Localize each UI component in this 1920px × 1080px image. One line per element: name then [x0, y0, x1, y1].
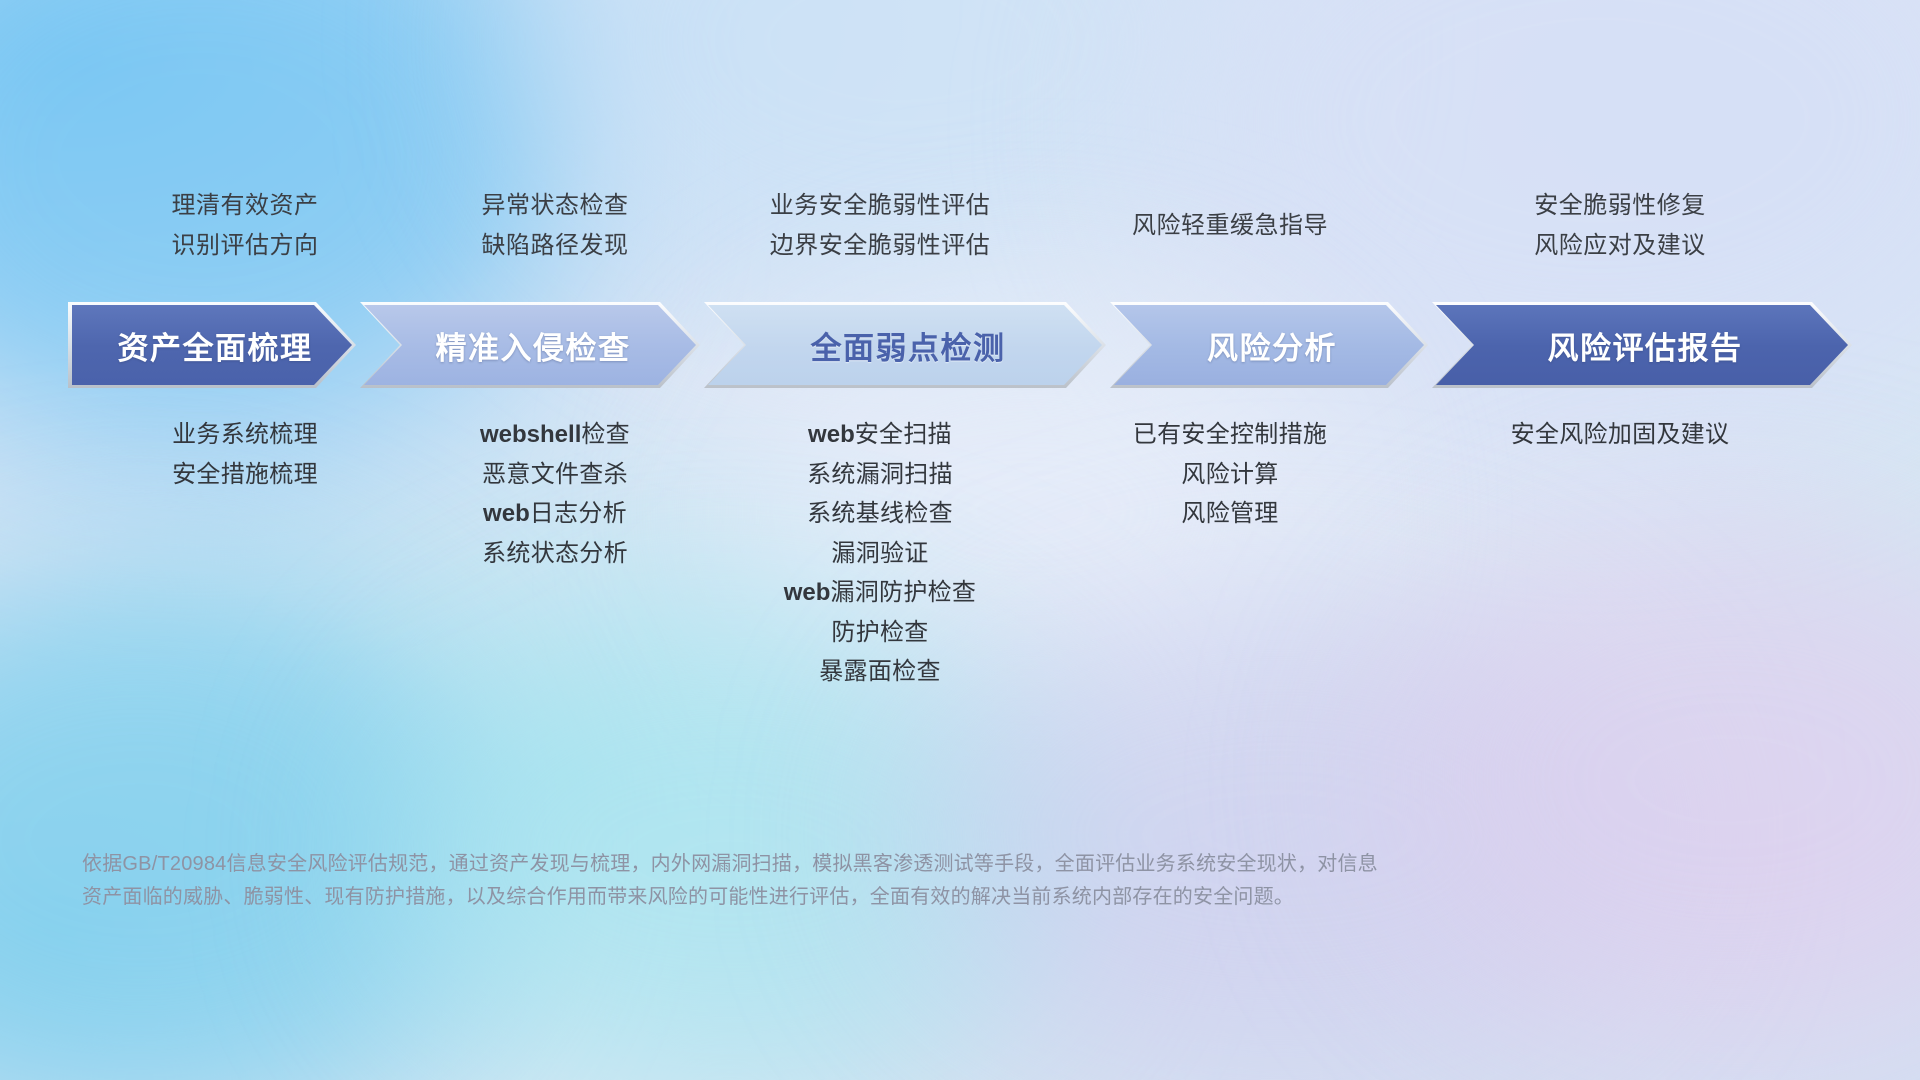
chevron-stage-risk-analysis[interactable]: 风险分析: [1114, 305, 1424, 385]
input-item: 业务安全脆弱性评估: [700, 186, 1060, 226]
output-item: 安全风险加固及建议: [1400, 415, 1840, 455]
input-item: 风险应对及建议: [1400, 226, 1840, 266]
output-item: web漏洞防护检查: [700, 573, 1060, 613]
output-item: web安全扫描: [700, 415, 1060, 455]
output-item: 暴露面检查: [700, 652, 1060, 692]
inputs-list-intrusion-check: 异常状态检查 缺陷路径发现: [400, 186, 710, 266]
output-item: 防护检查: [700, 613, 1060, 653]
outputs-list-weakness-detection: web安全扫描 系统漏洞扫描 系统基线检查 漏洞验证 web漏洞防护检查 防护检…: [700, 415, 1060, 692]
stage-column-risk-analysis: 风险轻重缓急指导 已有安全控制措施 风险计算 风险管理: [1080, 0, 1380, 1080]
chevron-label: 风险分析: [1201, 323, 1337, 368]
chevron-label: 精准入侵检查: [430, 323, 631, 368]
output-item: 风险管理: [1080, 494, 1380, 534]
inputs-list-asset-inventory: 理清有效资产 识别评估方向: [80, 186, 410, 266]
output-item: 已有安全控制措施: [1080, 415, 1380, 455]
input-item: 安全脆弱性修复: [1400, 186, 1840, 226]
process-chevron-band: 资产全面梳理 精准入侵检查 全面弱点检测 风险分析 风险评估报告: [72, 305, 1848, 385]
input-item: 理清有效资产: [80, 186, 410, 226]
input-item: 缺陷路径发现: [400, 226, 710, 266]
output-item: 风险计算: [1080, 455, 1380, 495]
output-item: 系统基线检查: [700, 494, 1060, 534]
output-item: 安全措施梳理: [80, 455, 410, 495]
input-item: 异常状态检查: [400, 186, 710, 226]
chevron-label: 全面弱点检测: [805, 323, 1006, 368]
chevron-stage-weakness-detection[interactable]: 全面弱点检测: [708, 305, 1102, 385]
output-item: 漏洞验证: [700, 534, 1060, 574]
slide-canvas: 理清有效资产 识别评估方向 业务系统梳理 安全措施梳理 异常状态检查 缺陷路径发…: [0, 0, 1920, 1080]
stage-column-asset-inventory: 理清有效资产 识别评估方向 业务系统梳理 安全措施梳理: [80, 0, 410, 1080]
output-item: 系统状态分析: [400, 534, 710, 574]
input-item: 风险轻重缓急指导: [1080, 206, 1380, 246]
stage-columns: 理清有效资产 识别评估方向 业务系统梳理 安全措施梳理 异常状态检查 缺陷路径发…: [80, 0, 1840, 1080]
input-item: 识别评估方向: [80, 226, 410, 266]
outputs-list-risk-report: 安全风险加固及建议: [1400, 415, 1840, 455]
outputs-list-risk-analysis: 已有安全控制措施 风险计算 风险管理: [1080, 415, 1380, 534]
stage-column-weakness-detection: 业务安全脆弱性评估 边界安全脆弱性评估 web安全扫描 系统漏洞扫描 系统基线检…: [700, 0, 1060, 1080]
output-item: 恶意文件查杀: [400, 455, 710, 495]
inputs-list-weakness-detection: 业务安全脆弱性评估 边界安全脆弱性评估: [700, 186, 1060, 266]
output-item: 系统漏洞扫描: [700, 455, 1060, 495]
chevron-label: 风险评估报告: [1542, 323, 1743, 368]
stage-column-intrusion-check: 异常状态检查 缺陷路径发现 webshell检查 恶意文件查杀 web日志分析 …: [400, 0, 710, 1080]
footer-caption: 依据GB/T20984信息安全风险评估规范，通过资产发现与梳理，内外网漏洞扫描，…: [82, 848, 1412, 914]
caption-line-2: 资产面临的威胁、脆弱性、现有防护措施，以及综合作用而带来风险的可能性进行评估，全…: [82, 881, 1412, 914]
output-item: webshell检查: [400, 415, 710, 455]
chevron-stage-risk-report[interactable]: 风险评估报告: [1436, 305, 1848, 385]
output-item: 业务系统梳理: [80, 415, 410, 455]
inputs-list-risk-analysis: 风险轻重缓急指导: [1080, 206, 1380, 246]
outputs-list-intrusion-check: webshell检查 恶意文件查杀 web日志分析 系统状态分析: [400, 415, 710, 573]
chevron-label: 资产全面梳理: [112, 323, 313, 368]
chevron-stage-asset-inventory[interactable]: 资产全面梳理: [72, 305, 352, 385]
caption-line-1: 依据GB/T20984信息安全风险评估规范，通过资产发现与梳理，内外网漏洞扫描，…: [82, 848, 1412, 881]
stage-column-risk-report: 安全脆弱性修复 风险应对及建议 安全风险加固及建议: [1400, 0, 1840, 1080]
output-item: web日志分析: [400, 494, 710, 534]
input-item: 边界安全脆弱性评估: [700, 226, 1060, 266]
inputs-list-risk-report: 安全脆弱性修复 风险应对及建议: [1400, 186, 1840, 266]
chevron-stage-intrusion-check[interactable]: 精准入侵检查: [364, 305, 696, 385]
outputs-list-asset-inventory: 业务系统梳理 安全措施梳理: [80, 415, 410, 494]
